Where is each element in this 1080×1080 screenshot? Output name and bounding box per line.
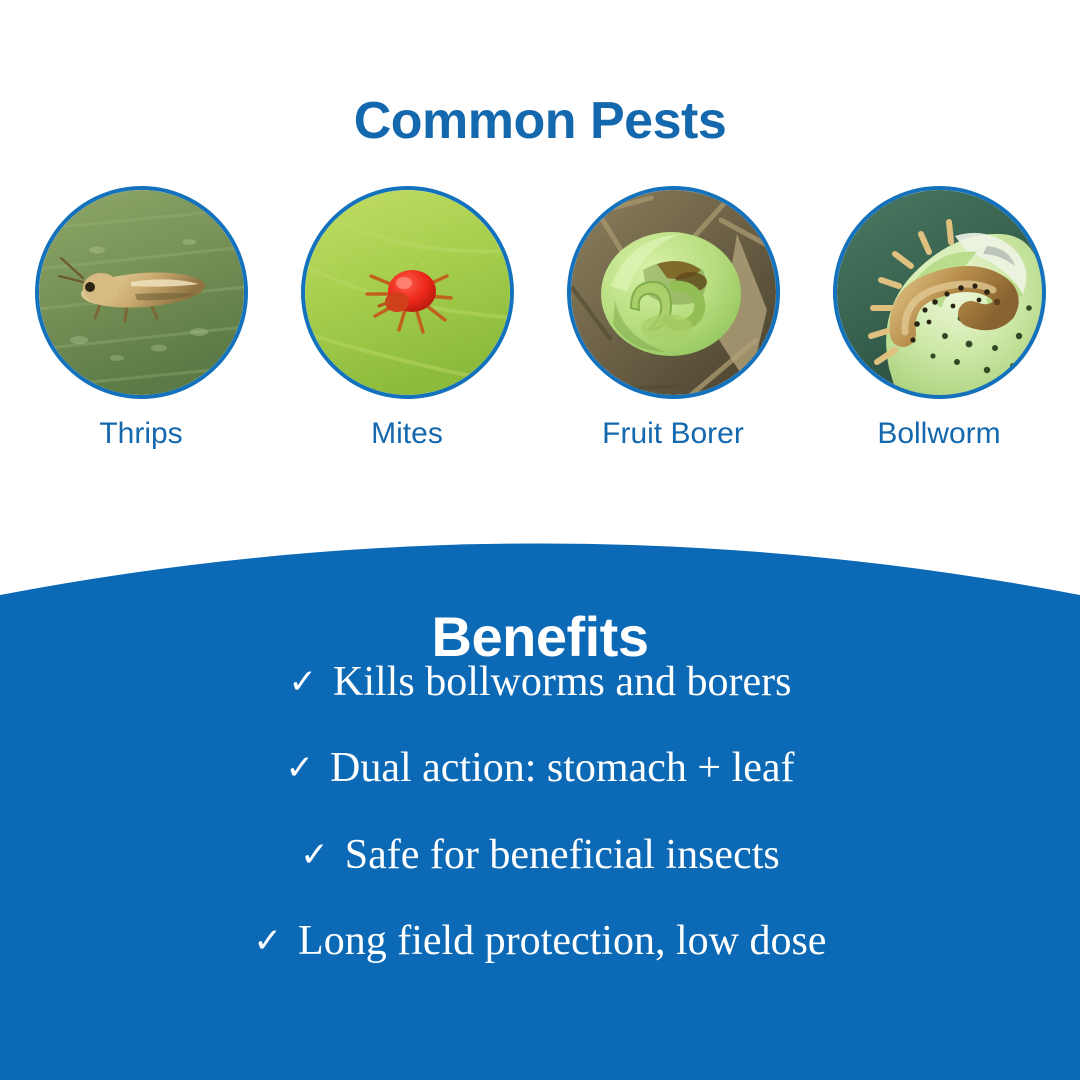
benefits-list: ✓ Kills bollworms and borers ✓ Dual acti… [0, 658, 1080, 965]
benefit-item: ✓ Long field protection, low dose [254, 917, 827, 965]
benefit-text: Safe for beneficial insects [345, 831, 780, 879]
thrips-illustration [39, 190, 244, 395]
pest-card-thrips[interactable]: Thrips [35, 186, 248, 451]
benefit-item: ✓ Safe for beneficial insects [300, 831, 779, 879]
page-title: Common Pests [0, 91, 1080, 151]
benefit-item: ✓ Dual action: stomach + leaf [285, 744, 794, 792]
benefit-text: Long field protection, low dose [298, 917, 826, 965]
check-icon: ✓ [289, 663, 318, 702]
common-pests-section: Common Pests [0, 0, 1080, 520]
fruit-borer-photo [567, 186, 780, 399]
check-icon: ✓ [285, 749, 314, 788]
bollworm-illustration [837, 190, 1042, 395]
mite-photo [301, 186, 514, 399]
benefits-section: Benefits ✓ Kills bollworms and borers ✓ … [0, 500, 1080, 1080]
check-icon: ✓ [300, 836, 329, 875]
benefit-text: Kills bollworms and borers [333, 658, 791, 706]
pest-card-bollworm[interactable]: Bollworm [833, 186, 1046, 451]
pest-label-bollworm: Bollworm [877, 417, 1000, 451]
pest-grid: Thrips [0, 186, 1080, 476]
benefit-text: Dual action: stomach + leaf [330, 744, 795, 792]
pest-label-mites: Mites [371, 417, 443, 451]
check-icon: ✓ [254, 922, 283, 961]
pest-label-thrips: Thrips [99, 417, 182, 451]
bollworm-photo [833, 186, 1046, 399]
thrips-photo [35, 186, 248, 399]
benefit-item: ✓ Kills bollworms and borers [289, 658, 792, 706]
fruit-borer-illustration [571, 190, 776, 395]
pest-card-fruit-borer[interactable]: Fruit Borer [567, 186, 780, 451]
pest-label-fruit-borer: Fruit Borer [602, 417, 744, 451]
pest-card-mites[interactable]: Mites [301, 186, 514, 451]
mite-illustration [305, 190, 510, 395]
